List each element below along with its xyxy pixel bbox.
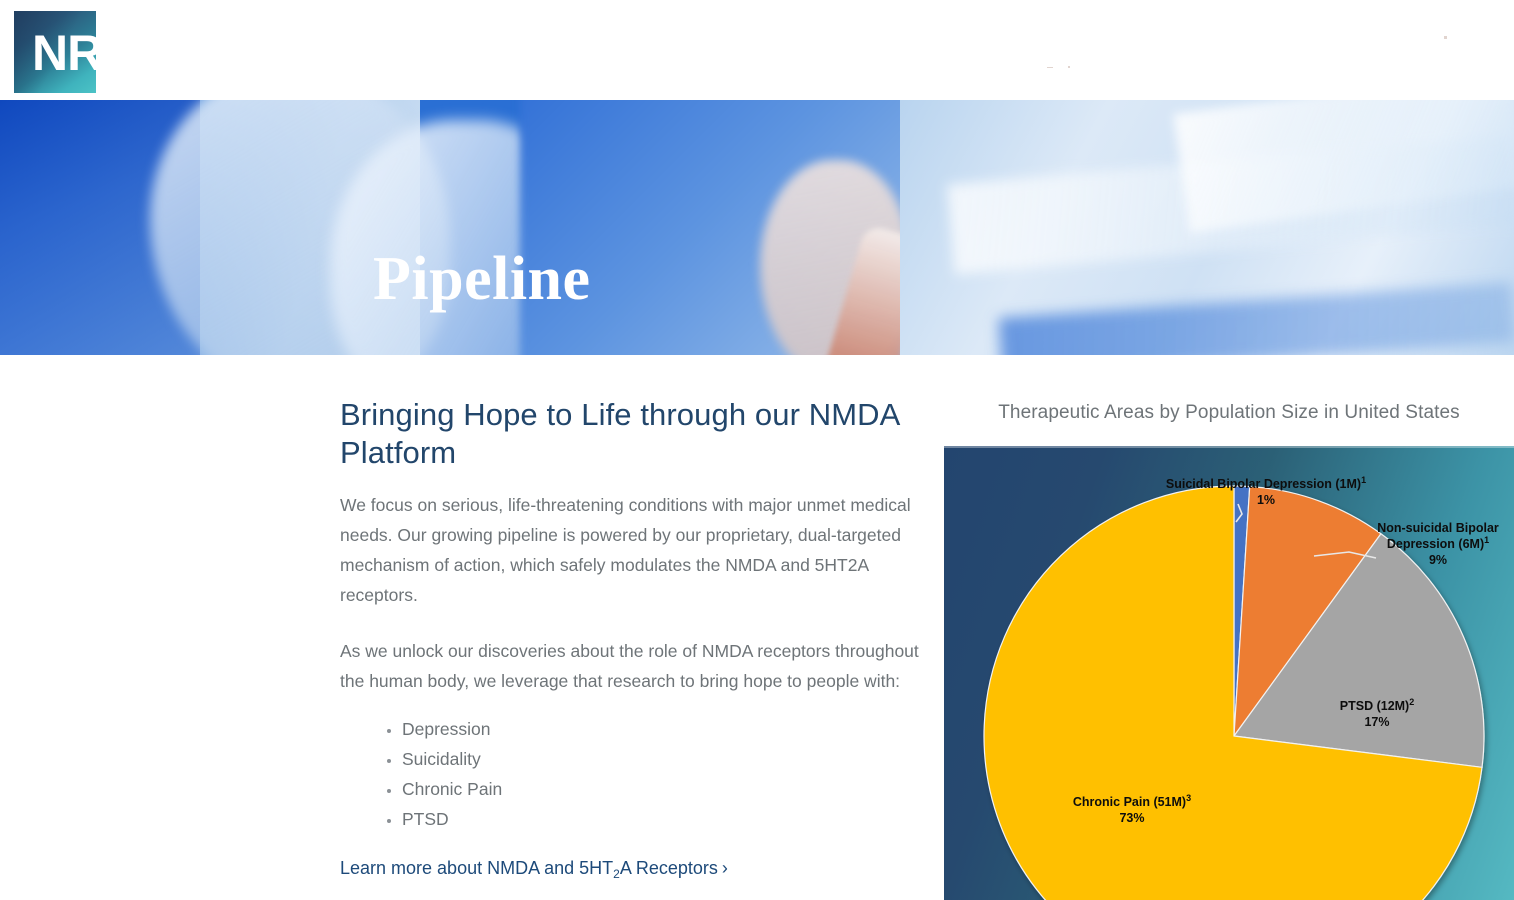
nrx-logo[interactable]: NRx — [14, 11, 96, 93]
list-item: Chronic Pain — [402, 774, 920, 804]
header-artifact-mark-2 — [1068, 66, 1070, 68]
section-heading: Bringing Hope to Life through our NMDA P… — [340, 396, 920, 472]
list-item: Depression — [402, 714, 920, 744]
hero-banner: Pipeline — [0, 100, 1514, 355]
pie-chart-svg — [944, 446, 1514, 900]
pie-chart-panel: Therapeutic Areas by Population Size in … — [944, 398, 1514, 900]
logo-wordmark: NRx — [32, 22, 172, 84]
chart-title: Therapeutic Areas by Population Size in … — [944, 398, 1514, 428]
pie-label-nonsuicidal-bipolar-depression: Non-suicidal BipolarDepression (6M)19% — [1362, 520, 1514, 568]
link-prefix-text: Learn more about NMDA and 5HT — [340, 858, 613, 878]
secondary-paragraph: As we unlock our discoveries about the r… — [340, 636, 920, 696]
link-subscript: 2 — [613, 867, 620, 881]
site-header: NRx — [0, 0, 1514, 100]
intro-paragraph: We focus on serious, life-threatening co… — [340, 490, 920, 610]
header-artifact-mark — [1047, 67, 1053, 68]
pie-label-ptsd: PTSD (12M)217% — [1292, 698, 1462, 730]
chart-canvas: Suicidal Bipolar Depression (1M)11% Non-… — [944, 446, 1514, 900]
learn-more-link[interactable]: Learn more about NMDA and 5HT2A Receptor… — [340, 858, 920, 879]
hero-lab-photo — [0, 100, 1514, 355]
chevron-right-icon: › — [722, 858, 728, 878]
header-artifact-dot — [1444, 36, 1447, 39]
link-suffix-text: A Receptors — [620, 858, 718, 878]
conditions-list: Depression Suicidality Chronic Pain PTSD — [340, 714, 920, 834]
pie-label-suicidal-bipolar-depression: Suicidal Bipolar Depression (1M)11% — [1136, 476, 1396, 508]
list-item: PTSD — [402, 804, 920, 834]
pie-label-chronic-pain: Chronic Pain (51M)373% — [1022, 794, 1242, 826]
page-title: Pipeline — [373, 248, 591, 310]
list-item: Suicidality — [402, 744, 920, 774]
content-column: Bringing Hope to Life through our NMDA P… — [340, 396, 920, 879]
